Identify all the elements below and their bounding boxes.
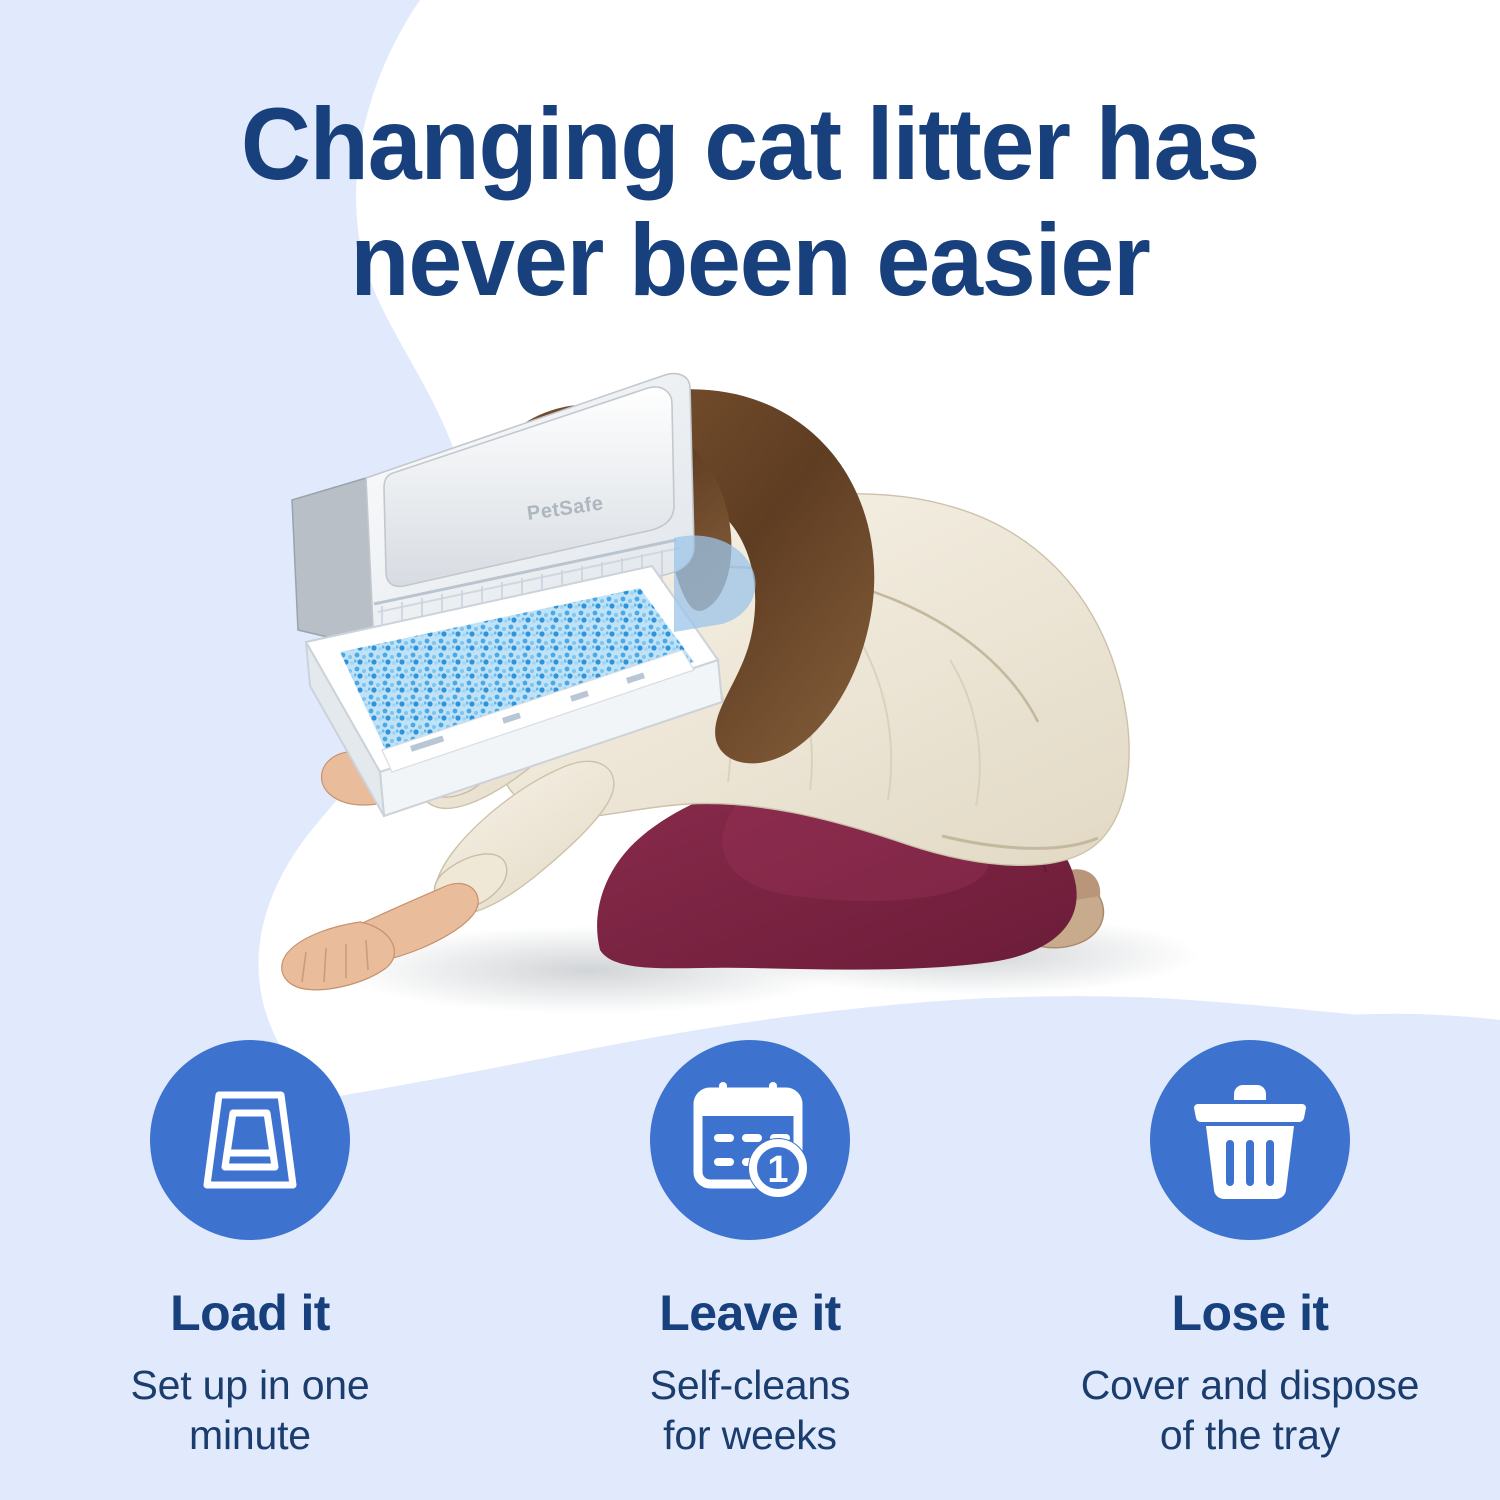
hood-left-panel xyxy=(292,478,374,648)
feature-subtitle-line-1: Cover and dispose xyxy=(1081,1360,1419,1410)
feature-title: Leave it xyxy=(659,1288,840,1338)
hero-photo: PetSafe xyxy=(270,330,1230,1030)
feature-subtitle: Set up in one minute xyxy=(130,1360,369,1460)
litter-tray-icon xyxy=(189,1079,311,1201)
feature-subtitle-line-2: of the tray xyxy=(1081,1410,1419,1460)
feature-leave-it: 1 Leave it Self-cleans for weeks xyxy=(500,1040,1000,1480)
feature-title: Load it xyxy=(170,1288,330,1338)
feature-icon-circle: 1 xyxy=(650,1040,850,1240)
feature-icon-circle xyxy=(1150,1040,1350,1240)
feature-subtitle: Cover and dispose of the tray xyxy=(1081,1360,1419,1460)
feature-load-it: Load it Set up in one minute xyxy=(0,1040,500,1480)
feature-subtitle-line-2: minute xyxy=(130,1410,369,1460)
trash-can-icon xyxy=(1190,1078,1310,1202)
feature-lose-it: Lose it Cover and dispose of the tray xyxy=(1000,1040,1500,1480)
feature-icon-circle xyxy=(150,1040,350,1240)
headline-line-1: Changing cat litter has xyxy=(38,86,1463,202)
feature-row: Load it Set up in one minute xyxy=(0,1040,1500,1480)
feature-title: Lose it xyxy=(1172,1288,1329,1338)
feature-subtitle-line-2: for weeks xyxy=(650,1410,851,1460)
promo-infographic: Changing cat litter has never been easie… xyxy=(0,0,1500,1500)
headline: Changing cat litter has never been easie… xyxy=(38,86,1463,319)
calendar-one-icon: 1 xyxy=(686,1076,814,1204)
calendar-badge-number: 1 xyxy=(767,1149,788,1191)
feature-subtitle: Self-cleans for weeks xyxy=(650,1360,851,1460)
headline-line-2: never been easier xyxy=(38,202,1463,318)
feature-subtitle-line-1: Set up in one xyxy=(130,1360,369,1410)
feature-subtitle-line-1: Self-cleans xyxy=(650,1360,851,1410)
